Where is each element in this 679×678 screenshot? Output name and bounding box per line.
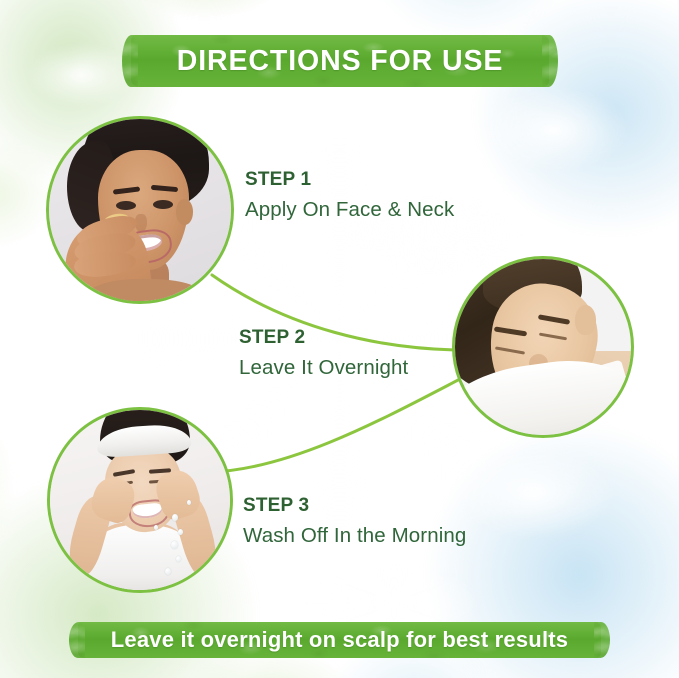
title-banner-text: DIRECTIONS FOR USE <box>177 45 504 78</box>
step-1-label: STEP 1 <box>245 170 454 191</box>
step-3-image-circle <box>47 407 233 593</box>
title-banner: DIRECTIONS FOR USE <box>131 35 549 87</box>
footer-banner: Leave it overnight on scalp for best res… <box>78 622 601 658</box>
water-droplet <box>187 500 191 505</box>
water-droplet <box>178 529 183 535</box>
ear-shape <box>176 199 192 224</box>
shoulder-shape <box>89 279 202 301</box>
step-2-label: STEP 2 <box>239 328 408 349</box>
step-3-text-block: STEP 3 Wash Off In the Morning <box>243 496 466 547</box>
photo-sleeping-woman <box>455 259 631 435</box>
step-3-description: Wash Off In the Morning <box>243 524 466 548</box>
step-3-label: STEP 3 <box>243 496 466 517</box>
water-droplet <box>176 556 181 562</box>
photo-apply-on-face <box>49 119 231 301</box>
step-2-text-block: STEP 2 Leave It Overnight <box>239 328 408 379</box>
eye-right <box>153 200 173 209</box>
step-1-text-block: STEP 1 Apply On Face & Neck <box>245 170 454 221</box>
ear-shape <box>575 305 596 335</box>
photo-washing-face <box>50 410 230 590</box>
connector-step3-to-step2 <box>210 378 462 472</box>
step-1-description: Apply On Face & Neck <box>245 198 454 222</box>
footer-banner-text: Leave it overnight on scalp for best res… <box>111 627 568 653</box>
cloud-shape <box>449 70 659 190</box>
step-2-image-circle <box>452 256 634 438</box>
step-2-description: Leave It Overnight <box>239 356 408 380</box>
step-1-image-circle <box>46 116 234 304</box>
water-droplet <box>171 541 178 549</box>
directions-for-use-poster: DIRECTIONS FOR USE STEP 1 App <box>0 0 679 678</box>
